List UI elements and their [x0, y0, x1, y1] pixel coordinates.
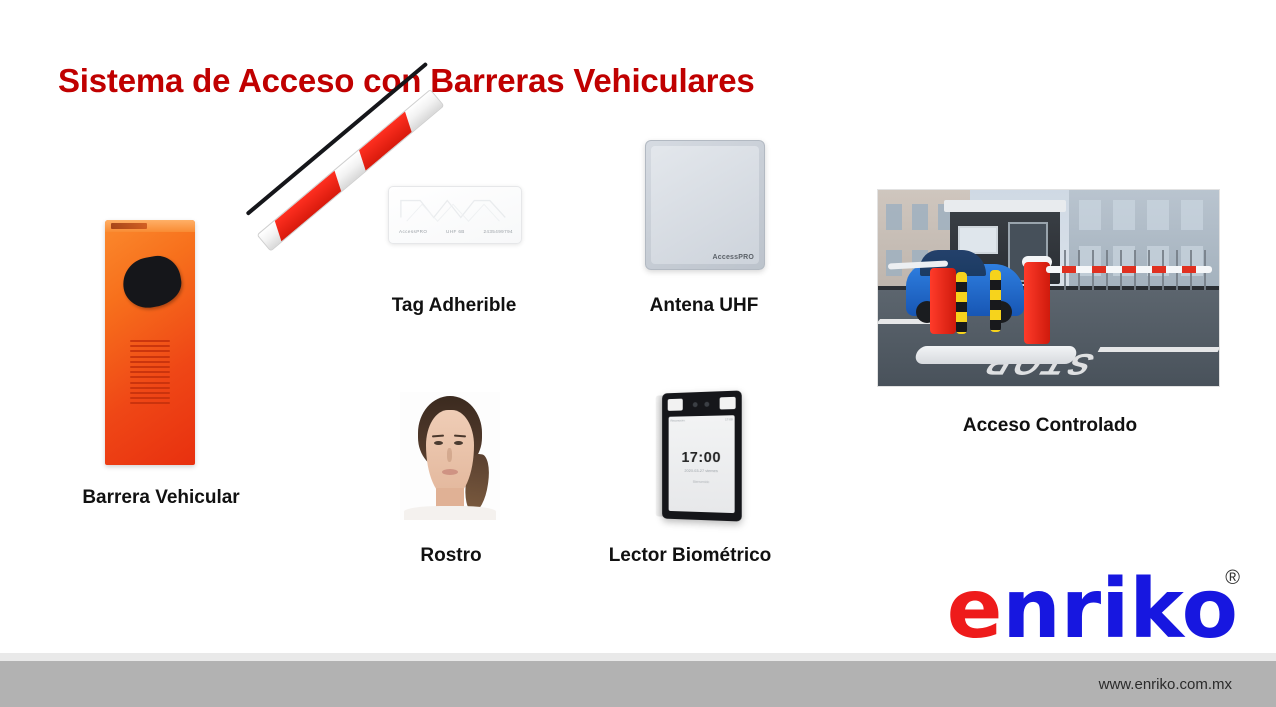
- reader-status-bar: Reconocim. 17:00: [671, 417, 733, 422]
- footer-divider: [0, 653, 1276, 661]
- controlled-access-scene-photo: STOP: [877, 189, 1220, 387]
- scene-island-kerb: [914, 346, 1078, 364]
- logo-letters-nriko: nriko: [1002, 562, 1238, 657]
- antenna-face-panel: [651, 146, 759, 264]
- tag-antenna-trace: [397, 193, 513, 225]
- uhf-rfid-tag-photo: AccessPRO UHF 6B 2435499794: [388, 186, 522, 244]
- vehicle-barrier-photo: [75, 165, 310, 475]
- caption-antena: Antena UHF: [600, 295, 808, 317]
- face-portrait-photo: [400, 392, 500, 520]
- scene-road-line-right: [1098, 347, 1220, 352]
- tag-band: UHF 6B: [446, 229, 465, 234]
- uhf-antenna-photo: AccessPRO: [645, 140, 765, 270]
- face-eye-left: [434, 441, 443, 445]
- scene-barrier-boom: [1046, 266, 1212, 273]
- barrier-vent-louvers: [130, 340, 170, 412]
- enriko-logo: enriko ®: [947, 573, 1238, 647]
- caption-barrera: Barrera Vehicular: [75, 487, 247, 509]
- face-mouth: [442, 469, 458, 475]
- reader-hint: Bienvenido: [669, 480, 735, 485]
- registered-trademark-icon: ®: [1225, 569, 1240, 587]
- reader-screen: Reconocim. 17:00 17:00 2020-03-27 vierne…: [669, 415, 735, 513]
- footer-bar: [0, 661, 1276, 707]
- scene-barrier-post-right: [1024, 262, 1050, 344]
- reader-ir-illuminator-left: [668, 399, 683, 411]
- reader-clock: 17:00: [669, 449, 735, 466]
- scene-barrier-post-left: [930, 268, 956, 334]
- reader-ir-illuminator-right: [720, 397, 736, 410]
- antenna-brand-label: AccessPRO: [713, 255, 755, 261]
- reader-camera-lenses: [693, 402, 709, 408]
- tag-serial: 2435499794: [483, 229, 513, 234]
- biometric-reader-photo: Reconocim. 17:00 17:00 2020-03-27 vierne…: [662, 390, 742, 521]
- scene-booth-roof: [944, 200, 1066, 212]
- reader-status-left: Reconocim.: [671, 418, 686, 422]
- website-url: www.enriko.com.mx: [1099, 676, 1232, 693]
- face-nose: [447, 448, 452, 462]
- barrier-brand-label: [111, 223, 147, 229]
- reader-date: 2020-03-27 viernes: [669, 468, 735, 474]
- scene-bollard-two: [990, 270, 1001, 332]
- slide-canvas: Sistema de Acceso con Barreras Vehicular…: [0, 0, 1276, 707]
- caption-lector: Lector Biométrico: [560, 545, 820, 567]
- face-shoulders: [404, 506, 496, 520]
- reader-body: Reconocim. 17:00 17:00 2020-03-27 vierne…: [662, 390, 742, 521]
- caption-tag: Tag Adherible: [340, 295, 568, 317]
- face-eye-right: [454, 441, 463, 445]
- logo-letter-e: e: [947, 562, 1003, 657]
- scene-bollard-one: [956, 272, 967, 334]
- reader-status-right: 17:00: [725, 417, 733, 421]
- tag-print-row: AccessPRO UHF 6B 2435499794: [399, 229, 513, 234]
- caption-rostro: Rostro: [370, 545, 532, 567]
- tag-brand: AccessPRO: [399, 229, 427, 234]
- caption-acceso: Acceso Controlado: [905, 415, 1195, 437]
